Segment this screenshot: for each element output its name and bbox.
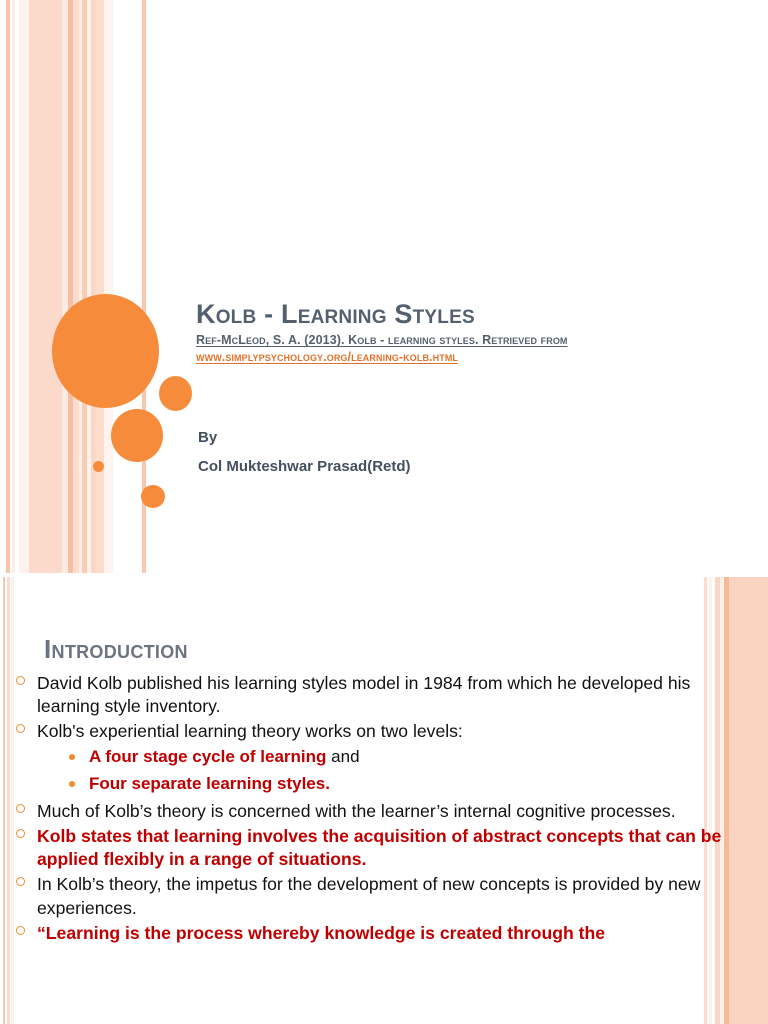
bullet-text: David Kolb published his learning styles… <box>37 673 690 716</box>
citation-link[interactable]: www.simplypsychology.org/learning-kolb.h… <box>196 349 458 366</box>
orange-circle-tiny <box>141 485 165 508</box>
bullet-item: Kolb states that learning involves the a… <box>8 825 752 871</box>
byline-label: By <box>198 424 618 453</box>
stripe <box>68 0 73 573</box>
stripe <box>62 0 68 573</box>
bullet-circle-icon <box>16 804 25 813</box>
bullet-list-container: David Kolb published his learning styles… <box>8 672 752 947</box>
bullet-circle-icon <box>16 829 25 838</box>
orange-circle-dot <box>93 461 104 472</box>
title-block: Kolb - Learning Styles Ref-McLeod, S. A.… <box>196 300 696 366</box>
citation-text: Ref-McLeod, S. A. (2013). Kolb - learnin… <box>196 333 568 347</box>
stripe <box>73 0 79 573</box>
sub-bullet-item: Four separate learning styles. <box>67 773 752 795</box>
orange-circle-small <box>159 376 192 411</box>
bullet-circle-icon <box>16 877 25 886</box>
stripe <box>91 0 95 573</box>
bullet-item: In Kolb’s theory, the impetus for the de… <box>8 873 752 919</box>
citation-block: Ref-McLeod, S. A. (2013). Kolb - learnin… <box>196 332 696 366</box>
stripe <box>6 0 10 573</box>
section-heading: Introduction <box>44 636 188 662</box>
sub-bullet-emphasis: Four separate learning styles. <box>89 774 330 793</box>
bullet-item: David Kolb published his learning styles… <box>8 672 752 718</box>
slide-deck: Kolb - Learning Styles Ref-McLeod, S. A.… <box>0 0 768 1024</box>
stripe <box>12 0 15 573</box>
sub-bullet-tail: and <box>326 747 359 766</box>
sub-bullet-emphasis: A four stage cycle of learning <box>89 747 326 766</box>
bullet-item: Kolb's experiential learning theory work… <box>8 720 752 795</box>
stripe <box>79 0 82 573</box>
bullet-dot-icon <box>69 781 75 787</box>
orange-circle-large <box>52 294 159 408</box>
bullet-text: Kolb's experiential learning theory work… <box>37 721 463 741</box>
bullet-text: “Learning is the process whereby knowled… <box>37 923 605 943</box>
byline-author: Col Mukteshwar Prasad(Retd) <box>198 453 618 482</box>
stripe <box>95 0 104 573</box>
slide-title: Kolb - Learning Styles Ref-McLeod, S. A.… <box>0 0 768 573</box>
page-title: Kolb - Learning Styles <box>196 300 696 328</box>
bullet-text: In Kolb’s theory, the impetus for the de… <box>37 874 700 917</box>
sub-bullet-list: A four stage cycle of learning and Four … <box>37 746 752 795</box>
bullet-circle-icon <box>16 676 25 685</box>
stripe <box>3 577 5 1024</box>
bullet-circle-icon <box>16 926 25 935</box>
sub-bullet-item: A four stage cycle of learning and <box>67 746 752 768</box>
stripe <box>104 0 113 573</box>
stripe <box>87 0 91 573</box>
stripe <box>19 0 29 573</box>
decorative-stripe-band-left <box>0 0 200 573</box>
bullet-text: Kolb states that learning involves the a… <box>37 826 721 869</box>
bullet-item: “Learning is the process whereby knowled… <box>8 922 752 945</box>
bullet-item: Much of Kolb’s theory is concerned with … <box>8 800 752 823</box>
bullet-list: David Kolb published his learning styles… <box>8 672 752 945</box>
bullet-text: Much of Kolb’s theory is concerned with … <box>37 801 676 821</box>
bullet-circle-icon <box>16 724 25 733</box>
orange-circle-medium <box>111 409 163 462</box>
bullet-dot-icon <box>69 754 75 760</box>
stripe <box>82 0 87 573</box>
byline: By Col Mukteshwar Prasad(Retd) <box>198 424 618 482</box>
stripe <box>29 0 62 573</box>
